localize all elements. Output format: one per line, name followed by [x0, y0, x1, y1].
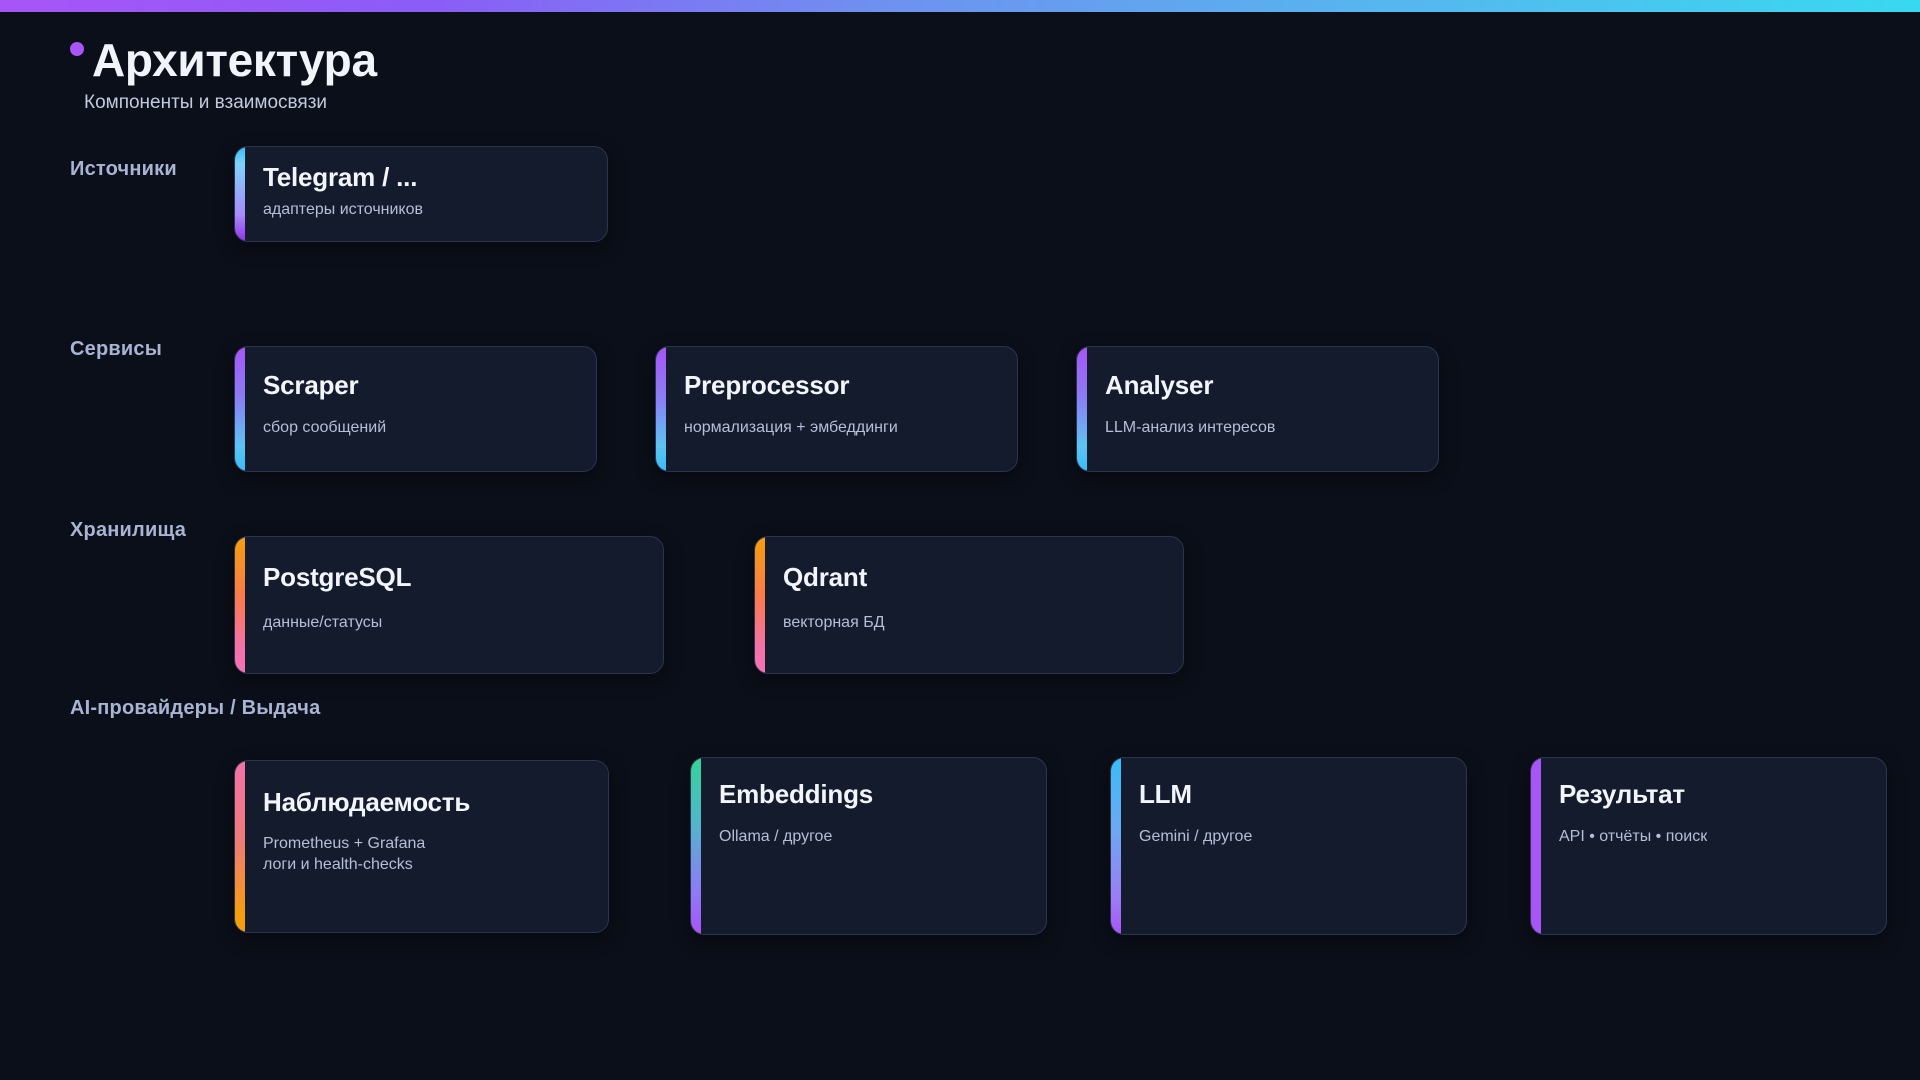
card-subtitle: Prometheus + Grafana логи и health-check…: [263, 833, 608, 876]
card-title: Preprocessor: [684, 371, 1017, 400]
page-header: Архитектура Компоненты и взаимосвязи: [70, 36, 377, 114]
card-subtitle: векторная БД: [783, 612, 1183, 634]
card-title: Scraper: [263, 371, 596, 400]
card-title: Analyser: [1105, 371, 1438, 400]
card-subtitle: API • отчёты • поиск: [1559, 826, 1886, 848]
card-subtitle: данные/статусы: [263, 612, 663, 634]
card-scraper[interactable]: Scraper сбор сообщений: [234, 346, 597, 472]
card-subtitle: Ollama / другое: [719, 826, 1046, 848]
card-title: PostgreSQL: [263, 563, 663, 592]
card-analyser[interactable]: Analyser LLM-анализ интересов: [1076, 346, 1439, 472]
card-title: Результат: [1559, 780, 1886, 809]
card-subtitle: Gemini / другое: [1139, 826, 1466, 848]
section-label-services: Сервисы: [70, 338, 162, 361]
top-gradient-bar: [0, 0, 1920, 12]
page-title: Архитектура: [92, 36, 377, 84]
card-title: Наблюдаемость: [263, 788, 608, 817]
card-title: Embeddings: [719, 780, 1046, 809]
bullet-dot-icon: [70, 42, 84, 56]
section-label-ai-providers: AI-провайдеры / Выдача: [70, 697, 320, 720]
card-postgresql[interactable]: PostgreSQL данные/статусы: [234, 536, 664, 674]
card-subtitle: LLM-анализ интересов: [1105, 417, 1438, 439]
page-subtitle: Компоненты и взаимосвязи: [84, 92, 377, 114]
title-row: Архитектура: [70, 36, 377, 84]
card-title: Telegram / ...: [263, 163, 607, 192]
card-telegram[interactable]: Telegram / ... адаптеры источников: [234, 146, 608, 242]
card-result[interactable]: Результат API • отчёты • поиск: [1530, 757, 1887, 935]
section-label-sources: Источники: [70, 158, 177, 181]
card-observability[interactable]: Наблюдаемость Prometheus + Grafana логи …: [234, 760, 609, 933]
card-qdrant[interactable]: Qdrant векторная БД: [754, 536, 1184, 674]
card-title: Qdrant: [783, 563, 1183, 592]
card-subtitle: сбор сообщений: [263, 417, 596, 439]
card-embeddings[interactable]: Embeddings Ollama / другое: [690, 757, 1047, 935]
card-subtitle: адаптеры источников: [263, 199, 607, 221]
card-subtitle: нормализация + эмбеддинги: [684, 417, 1017, 439]
card-title: LLM: [1139, 780, 1466, 809]
card-preprocessor[interactable]: Preprocessor нормализация + эмбеддинги: [655, 346, 1018, 472]
section-label-storage: Хранилища: [70, 519, 186, 542]
card-llm[interactable]: LLM Gemini / другое: [1110, 757, 1467, 935]
architecture-diagram-page: Архитектура Компоненты и взаимосвязи Ист…: [0, 0, 1920, 1080]
